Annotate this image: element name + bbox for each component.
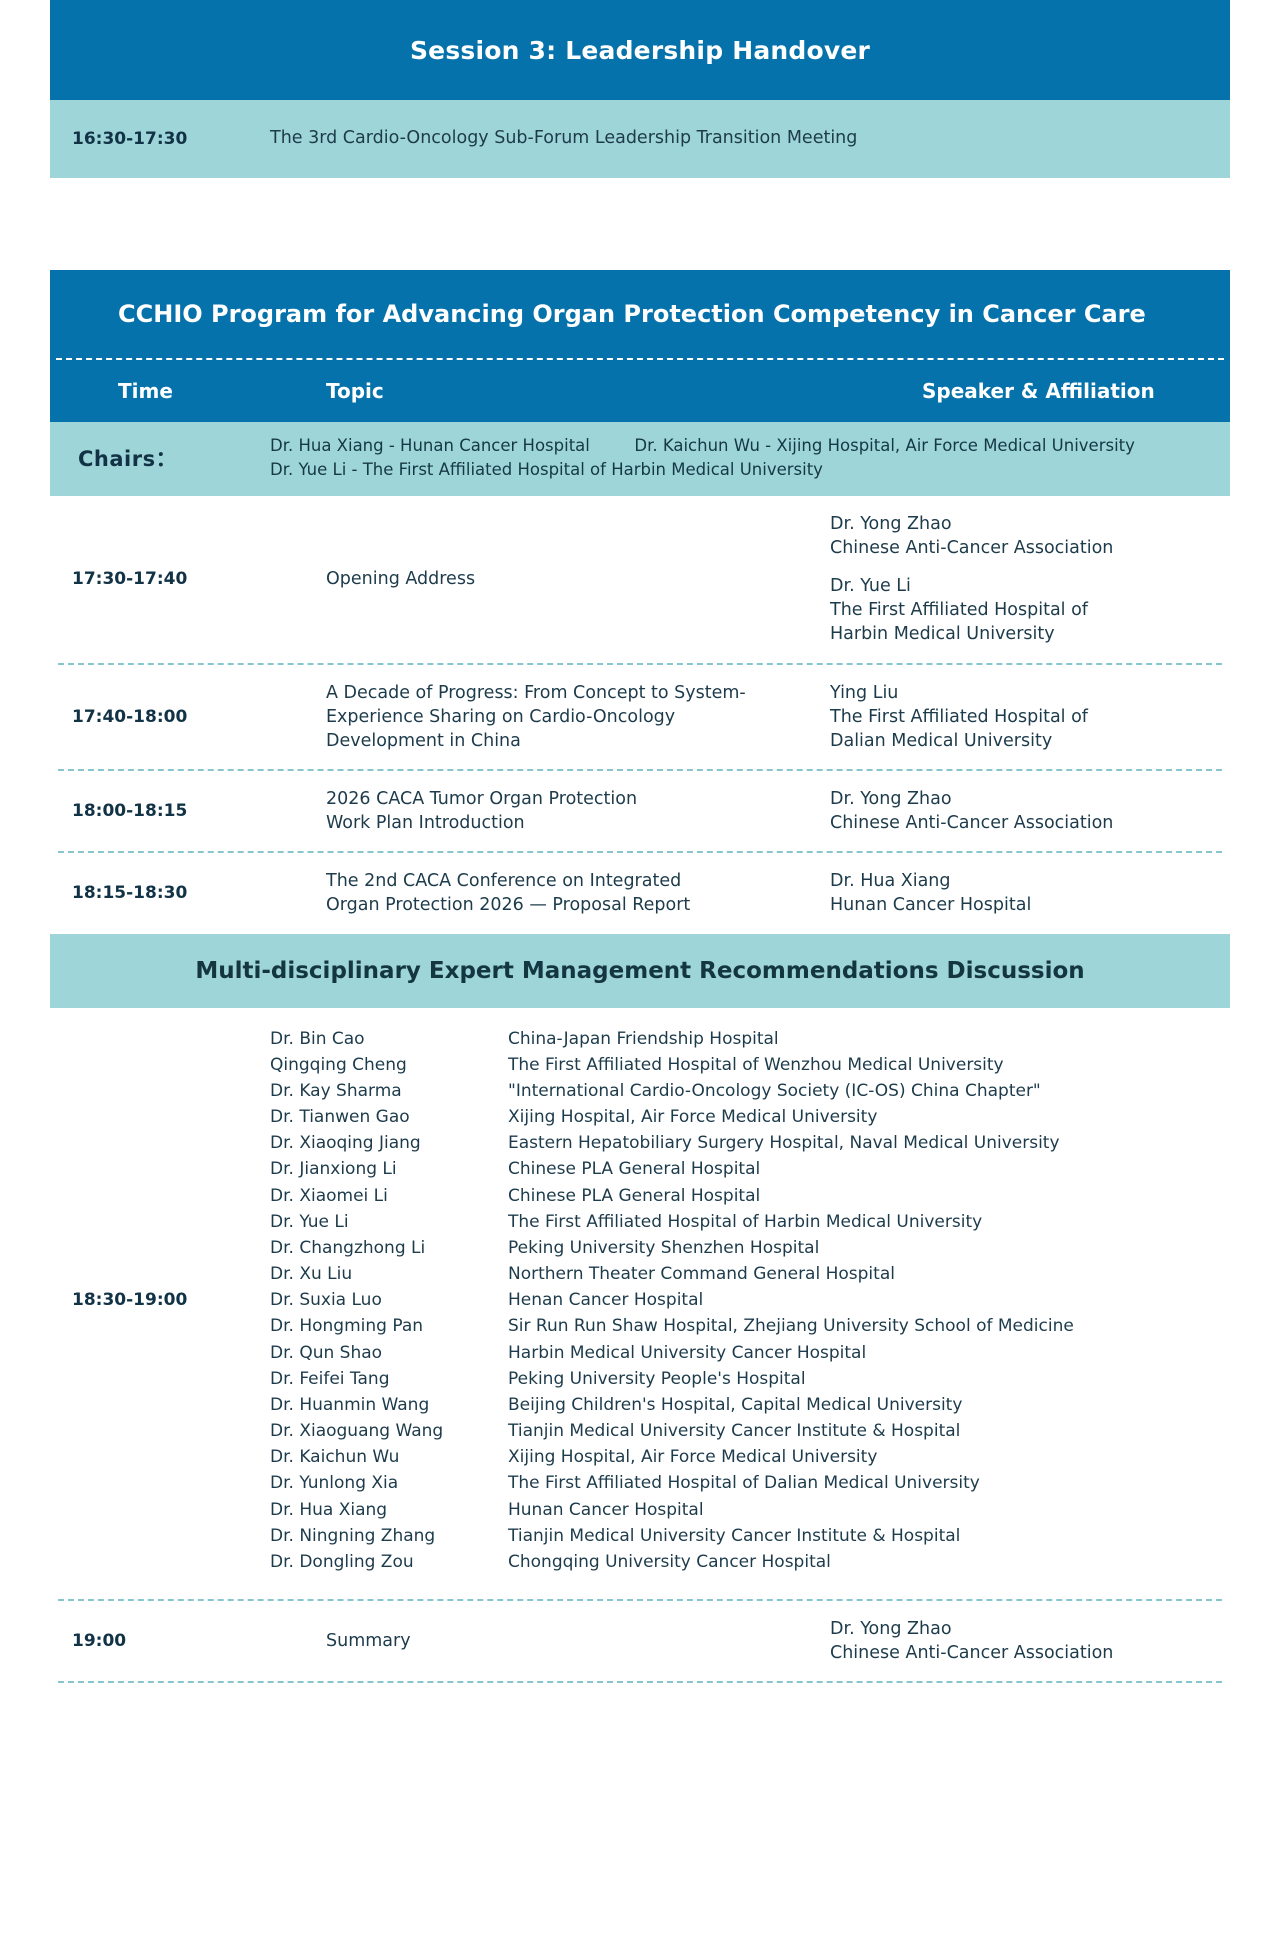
participant-affiliation: Peking University Shenzhen Hospital [508, 1235, 1216, 1261]
discussion-banner: Multi-disciplinary Expert Management Rec… [50, 934, 1230, 1008]
list-item: Dr. Qun ShaoHarbin Medical University Ca… [270, 1340, 1216, 1366]
discussion-time: 18:30-19:00 [50, 1290, 270, 1310]
summary-entry-speakers: Dr. Yong ZhaoChinese Anti-Cancer Associa… [830, 1617, 1230, 1665]
session3-block: Session 3: Leadership Handover 16:30-17:… [50, 0, 1230, 178]
participant-affiliation: "International Cardio-Oncology Society (… [508, 1078, 1216, 1104]
participant-affiliation: Eastern Hepatobiliary Surgery Hospital, … [508, 1130, 1216, 1156]
speaker-group: Dr. Yong ZhaoChinese Anti-Cancer Associa… [830, 1617, 1214, 1665]
chairs-row: Chairs： Dr. Hua Xiang - Hunan Cancer Hos… [50, 422, 1230, 496]
column-header-topic: Topic [270, 379, 830, 403]
column-header-time: Time [50, 379, 270, 403]
participant-affiliation: Xijing Hospital, Air Force Medical Unive… [508, 1444, 1216, 1470]
program-row-speakers: Dr. Hua XiangHunan Cancer Hospital [830, 869, 1230, 917]
list-item: Dr. Suxia LuoHenan Cancer Hospital [270, 1287, 1216, 1313]
participant-affiliation: Harbin Medical University Cancer Hospita… [508, 1340, 1216, 1366]
block-spacer [0, 178, 1280, 270]
speaker-affiliation: The First Affiliated Hospital of [830, 598, 1214, 622]
speaker-affiliation: Chinese Anti-Cancer Association [830, 1641, 1214, 1665]
program-row-topic: Opening Address [270, 567, 830, 591]
list-item: Dr. Kaichun WuXijing Hospital, Air Force… [270, 1444, 1216, 1470]
speaker-name: Dr. Yong Zhao [830, 512, 1214, 536]
speaker-name: Ying Liu [830, 681, 1214, 705]
summary-entry-topic: Summary [270, 1629, 830, 1653]
program-row-topic: The 2nd CACA Conference on IntegratedOrg… [270, 869, 830, 917]
speaker-name: Dr. Yong Zhao [830, 787, 1214, 811]
list-item: Dr. Tianwen GaoXijing Hospital, Air Forc… [270, 1104, 1216, 1130]
speaker-affiliation: Dalian Medical University [830, 729, 1214, 753]
participant-affiliation: Tianjin Medical University Cancer Instit… [508, 1523, 1216, 1549]
speaker-affiliation: Hunan Cancer Hospital [830, 893, 1214, 917]
participant-affiliation: Tianjin Medical University Cancer Instit… [508, 1418, 1216, 1444]
program-row: 18:00-18:152026 CACA Tumor Organ Protect… [50, 771, 1230, 851]
participant-name: Dr. Xiaoqing Jiang [270, 1130, 508, 1156]
list-item: Dr. Huanmin WangBeijing Children's Hospi… [270, 1392, 1216, 1418]
participant-affiliation: Chinese PLA General Hospital [508, 1183, 1216, 1209]
participant-name: Dr. Bin Cao [270, 1026, 508, 1052]
speaker-group: Dr. Yong ZhaoChinese Anti-Cancer Associa… [830, 512, 1214, 560]
program-row-speakers: Dr. Yong ZhaoChinese Anti-Cancer Associa… [830, 787, 1230, 835]
participant-name: Dr. Xu Liu [270, 1261, 508, 1287]
program-row-topic: 2026 CACA Tumor Organ ProtectionWork Pla… [270, 787, 830, 835]
participant-affiliation: Northern Theater Command General Hospita… [508, 1261, 1216, 1287]
chairs-line-2: Dr. Yue Li - The First Affiliated Hospit… [270, 458, 1210, 482]
program-title: CCHIO Program for Advancing Organ Protec… [50, 270, 1230, 358]
participant-affiliation: Xijing Hospital, Air Force Medical Unive… [508, 1104, 1216, 1130]
list-item: Dr. Xiaoqing JiangEastern Hepatobiliary … [270, 1130, 1216, 1156]
page-bottom-gap [50, 1683, 1230, 1725]
list-item: Dr. Xiaomei LiChinese PLA General Hospit… [270, 1183, 1216, 1209]
participant-name: Dr. Feifei Tang [270, 1366, 508, 1392]
program-page: Session 3: Leadership Handover 16:30-17:… [0, 0, 1280, 1951]
list-item: Dr. Dongling ZouChongqing University Can… [270, 1549, 1216, 1575]
chairs-names: Dr. Hua Xiang - Hunan Cancer Hospital Dr… [270, 434, 1230, 482]
cchio-program-block: CCHIO Program for Advancing Organ Protec… [50, 270, 1230, 1725]
participant-name: Dr. Changzhong Li [270, 1235, 508, 1261]
program-row-time: 17:30-17:40 [50, 569, 270, 589]
chairs-label: Chairs： [50, 443, 270, 473]
program-row: 18:15-18:30The 2nd CACA Conference on In… [50, 853, 1230, 933]
participant-affiliation: Hunan Cancer Hospital [508, 1497, 1216, 1523]
list-item: Dr. Xiaoguang WangTianjin Medical Univer… [270, 1418, 1216, 1444]
participant-affiliation: The First Affiliated Hospital of Harbin … [508, 1209, 1216, 1235]
speaker-affiliation: The First Affiliated Hospital of [830, 705, 1214, 729]
speaker-name: Dr. Hua Xiang [830, 869, 1214, 893]
program-header-band: CCHIO Program for Advancing Organ Protec… [50, 270, 1230, 422]
summary-entry-time: 19:00 [50, 1631, 270, 1651]
speaker-affiliation: Chinese Anti-Cancer Association [830, 536, 1214, 560]
program-row-speakers: Ying LiuThe First Affiliated Hospital of… [830, 681, 1230, 753]
participant-affiliation: The First Affiliated Hospital of Dalian … [508, 1470, 1216, 1496]
participant-affiliation: Henan Cancer Hospital [508, 1287, 1216, 1313]
list-item: Dr. Changzhong LiPeking University Shenz… [270, 1235, 1216, 1261]
list-item: Dr. Hongming PanSir Run Run Shaw Hospita… [270, 1313, 1216, 1339]
participant-affiliation: Chinese PLA General Hospital [508, 1156, 1216, 1182]
participant-affiliation: Sir Run Run Shaw Hospital, Zhejiang Univ… [508, 1313, 1216, 1339]
program-row-topic: A Decade of Progress: From Concept to Sy… [270, 681, 830, 753]
summary-entry: 19:00SummaryDr. Yong ZhaoChinese Anti-Ca… [50, 1601, 1230, 1681]
session3-topic: The 3rd Cardio-Oncology Sub-Forum Leader… [270, 127, 1230, 151]
list-item: Dr. Xu LiuNorthern Theater Command Gener… [270, 1261, 1216, 1287]
participant-name: Dr. Qun Shao [270, 1340, 508, 1366]
discussion-row: 18:30-19:00 Dr. Bin CaoChina-Japan Frien… [50, 1008, 1230, 1600]
list-item: Dr. Bin CaoChina-Japan Friendship Hospit… [270, 1026, 1216, 1052]
speaker-group: Dr. Yue LiThe First Affiliated Hospital … [830, 574, 1214, 646]
participant-name: Dr. Xiaomei Li [270, 1183, 508, 1209]
participant-name: Dr. Ningning Zhang [270, 1523, 508, 1549]
list-item: Dr. Ningning ZhangTianjin Medical Univer… [270, 1523, 1216, 1549]
speaker-group: Dr. Hua XiangHunan Cancer Hospital [830, 869, 1214, 917]
participant-name: Dr. Hongming Pan [270, 1313, 508, 1339]
program-rows: 17:30-17:40Opening AddressDr. Yong ZhaoC… [50, 496, 1230, 934]
participant-affiliation: Chongqing University Cancer Hospital [508, 1549, 1216, 1575]
participant-name: Dr. Dongling Zou [270, 1549, 508, 1575]
list-item: Dr. Yue LiThe First Affiliated Hospital … [270, 1209, 1216, 1235]
speaker-group: Ying LiuThe First Affiliated Hospital of… [830, 681, 1214, 753]
speaker-affiliation: Chinese Anti-Cancer Association [830, 811, 1214, 835]
participant-name: Dr. Suxia Luo [270, 1287, 508, 1313]
participant-affiliation: Beijing Children's Hospital, Capital Med… [508, 1392, 1216, 1418]
participant-name: Dr. Yue Li [270, 1209, 508, 1235]
program-row-speakers: Dr. Yong ZhaoChinese Anti-Cancer Associa… [830, 512, 1230, 647]
participant-name: Dr. Hua Xiang [270, 1497, 508, 1523]
participant-name: Dr. Jianxiong Li [270, 1156, 508, 1182]
session3-title: Session 3: Leadership Handover [50, 0, 1230, 100]
participant-name: Dr. Xiaoguang Wang [270, 1418, 508, 1444]
program-row-time: 17:40-18:00 [50, 707, 270, 727]
list-item: Qingqing ChengThe First Affiliated Hospi… [270, 1052, 1216, 1078]
participant-name: Dr. Huanmin Wang [270, 1392, 508, 1418]
program-row: 17:40-18:00A Decade of Progress: From Co… [50, 665, 1230, 769]
chair-1: Dr. Hua Xiang - Hunan Cancer Hospital [270, 436, 590, 455]
participant-affiliation: Peking University People's Hospital [508, 1366, 1216, 1392]
chair-2: Dr. Kaichun Wu - Xijing Hospital, Air Fo… [634, 436, 1135, 455]
program-row: 17:30-17:40Opening AddressDr. Yong ZhaoC… [50, 496, 1230, 663]
column-header-speaker: Speaker & Affiliation [830, 379, 1230, 403]
list-item: Dr. Kay Sharma"International Cardio-Onco… [270, 1078, 1216, 1104]
participant-name: Dr. Tianwen Gao [270, 1104, 508, 1130]
participant-affiliation: China-Japan Friendship Hospital [508, 1026, 1216, 1052]
participant-name: Qingqing Cheng [270, 1052, 508, 1078]
session3-time: 16:30-17:30 [50, 129, 270, 149]
chairs-line-1: Dr. Hua Xiang - Hunan Cancer Hospital Dr… [270, 434, 1210, 458]
list-item: Dr. Jianxiong LiChinese PLA General Hosp… [270, 1156, 1216, 1182]
participant-affiliation: The First Affiliated Hospital of Wenzhou… [508, 1052, 1216, 1078]
participant-name: Dr. Kay Sharma [270, 1078, 508, 1104]
list-item: Dr. Feifei TangPeking University People'… [270, 1366, 1216, 1392]
speaker-affiliation: Harbin Medical University [830, 622, 1214, 646]
program-row-time: 18:00-18:15 [50, 801, 270, 821]
participant-name: Dr. Yunlong Xia [270, 1470, 508, 1496]
speaker-name: Dr. Yong Zhao [830, 1617, 1214, 1641]
summary-row: 19:00SummaryDr. Yong ZhaoChinese Anti-Ca… [50, 1601, 1230, 1681]
participant-name: Dr. Kaichun Wu [270, 1444, 508, 1470]
speaker-group: Dr. Yong ZhaoChinese Anti-Cancer Associa… [830, 787, 1214, 835]
session3-row: 16:30-17:30 The 3rd Cardio-Oncology Sub-… [50, 100, 1230, 178]
column-headers: Time Topic Speaker & Affiliation [50, 360, 1230, 422]
discussion-participant-list: Dr. Bin CaoChina-Japan Friendship Hospit… [270, 1026, 1230, 1576]
speaker-name: Dr. Yue Li [830, 574, 1214, 598]
list-item: Dr. Hua XiangHunan Cancer Hospital [270, 1497, 1216, 1523]
list-item: Dr. Yunlong XiaThe First Affiliated Hosp… [270, 1470, 1216, 1496]
program-row-time: 18:15-18:30 [50, 883, 270, 903]
